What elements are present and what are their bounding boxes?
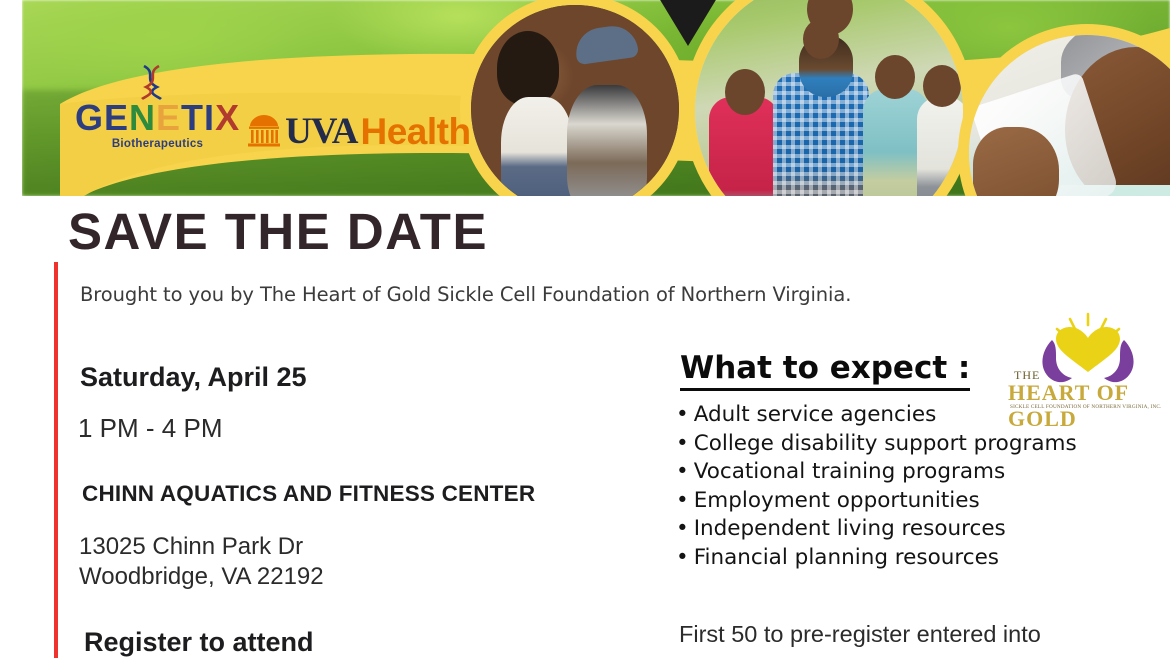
list-item: •Independent living resources	[676, 515, 1077, 544]
genetix-wordmark: GENETIX	[75, 100, 240, 136]
pre-register-promo-text: First 50 to pre-register entered into	[679, 621, 1041, 648]
list-item-label: Employment opportunities	[694, 488, 980, 513]
heart-of-gold-logo: THE HEART OF GOLD SICKLE CELL FOUNDATION…	[1000, 312, 1168, 416]
list-item: •Vocational training programs	[676, 458, 1077, 487]
list-item-label: College disability support programs	[694, 431, 1077, 456]
list-item: •Financial planning resources	[676, 544, 1077, 573]
list-item-label: Vocational training programs	[694, 459, 1005, 484]
list-item-label: Adult service agencies	[694, 402, 937, 427]
photo-woman-drinking-water	[958, 24, 1170, 196]
red-accent-bar	[54, 262, 58, 658]
bullet-icon: •	[676, 516, 689, 541]
genetix-letter-n: N	[129, 100, 156, 136]
bullet-icon: •	[676, 459, 689, 484]
genetix-logo: GENETIX Biotherapeutics	[75, 100, 240, 150]
uva-health-logo: UVAHealth	[246, 113, 470, 150]
genetix-letter-e2: E	[156, 100, 181, 136]
what-to-expect-heading: What to expect :	[680, 350, 970, 391]
genetix-letter-g: G	[75, 100, 104, 136]
sponsor-logos: GENETIX Biotherapeutics UVAHealth	[75, 100, 471, 150]
subtitle-text: Brought to you by The Heart of Gold Sick…	[80, 283, 851, 306]
event-address-line1: 13025 Chinn Park Dr	[79, 533, 303, 561]
list-item: •College disability support programs	[676, 430, 1077, 459]
rotunda-icon	[246, 115, 282, 149]
event-time: 1 PM - 4 PM	[78, 413, 222, 444]
photo-two-women-exercising	[460, 0, 690, 196]
genetix-letter-t: T	[181, 100, 204, 136]
dna-helix-icon	[137, 64, 167, 100]
event-address-line2: Woodbridge, VA 22192	[79, 563, 324, 591]
uva-wordmark: UVA	[285, 113, 357, 150]
list-item-label: Financial planning resources	[694, 545, 999, 570]
list-item-label: Independent living resources	[694, 516, 1006, 541]
list-item: •Employment opportunities	[676, 487, 1077, 516]
genetix-letter-e1: E	[104, 100, 129, 136]
bullet-icon: •	[676, 545, 689, 570]
heart-of-gold-tagline: SICKLE CELL FOUNDATION OF NORTHERN VIRGI…	[1010, 404, 1162, 410]
genetix-letter-x: X	[215, 100, 240, 136]
page-title: SAVE THE DATE	[68, 206, 488, 257]
uva-health-wordmark: Health	[360, 113, 470, 150]
bullet-icon: •	[676, 488, 689, 513]
flyer-poster: GENETIX Biotherapeutics UVAHealth SAVE T…	[0, 0, 1170, 658]
bullet-icon: •	[676, 431, 689, 456]
event-date: Saturday, April 25	[80, 362, 307, 393]
bullet-icon: •	[676, 402, 689, 427]
photo-family-group	[684, 0, 974, 196]
genetix-letter-i: I	[204, 100, 215, 136]
genetix-subtitle: Biotherapeutics	[75, 138, 240, 150]
register-to-attend-label: Register to attend	[84, 627, 314, 658]
event-venue: CHINN AQUATICS AND FITNESS CENTER	[82, 481, 535, 507]
